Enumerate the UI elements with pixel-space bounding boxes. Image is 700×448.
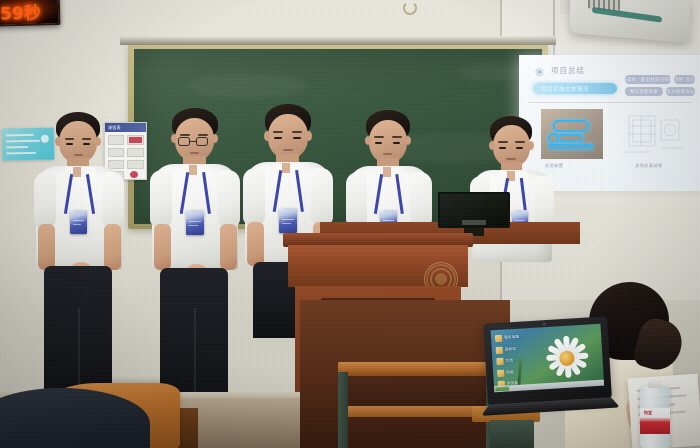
screenshot-root: 项目总结 项目实施总体情况 总成本 · 新型材料分布图 经济性 可行性 整车性能… <box>0 0 700 448</box>
podium-face <box>288 245 468 287</box>
folder-icon <box>495 335 502 342</box>
slide-tag: 总成本 · 新型材料分布图 <box>625 75 671 84</box>
led-countdown-text: 59秒 <box>0 0 41 25</box>
bottle-brand-label: 怡宝 <box>644 410 652 416</box>
slide-title: 项目总结 <box>551 65 585 76</box>
slide-tag: 经济性 可行性 <box>674 75 695 84</box>
slide-divider <box>529 102 692 103</box>
folder-icon <box>496 358 503 365</box>
pump-diagram-icon <box>547 116 597 152</box>
water-bottle[interactable]: 怡宝 <box>640 378 670 448</box>
laptop-foreground[interactable]: 我的电脑 回收站 文档 网络 浏览器 百度网盘 影音 <box>483 316 613 419</box>
student-2-glasses-icon-2 <box>196 137 208 146</box>
student-2-badge <box>186 210 204 235</box>
desktop-icon[interactable]: 网络 <box>497 367 531 378</box>
student-1 <box>34 112 124 412</box>
student-1-head <box>59 121 97 163</box>
wall-hook-icon <box>403 1 417 15</box>
student-3-head <box>268 114 308 159</box>
desktop-monitor <box>438 192 510 236</box>
webcam-icon <box>542 322 546 326</box>
student-1-badge <box>70 210 87 234</box>
desktop-icon[interactable]: 文档 <box>496 355 530 366</box>
student-5-head <box>493 125 530 167</box>
start-button[interactable] <box>495 386 509 391</box>
slide-header: 项目总结 <box>533 64 585 77</box>
slide-highlight-pill: 项目实施总体情况 <box>533 83 617 94</box>
chalk-rail <box>120 36 556 45</box>
led-countdown-display: 59秒 <box>0 0 60 27</box>
student-3-badge <box>279 208 297 233</box>
table-shelf <box>346 406 488 417</box>
laptop-lid: 我的电脑 回收站 文档 网络 浏览器 百度网盘 影音 <box>483 316 612 405</box>
laptop-screen[interactable]: 我的电脑 回收站 文档 网络 浏览器 百度网盘 影音 <box>491 324 605 393</box>
table-opening <box>346 376 488 406</box>
slide-highlight-label: 项目实施总体情况 <box>541 85 589 93</box>
slide-tag-group: 总成本 · 新型材料分布图 经济性 可行性 整车性能效果 气流分离情况分析 <box>625 75 695 96</box>
monitor-logo <box>462 220 486 225</box>
bottle-label: 怡宝 <box>640 408 670 434</box>
slide-diagram-caption: 流场仿真结果 <box>635 163 663 169</box>
slide-technical-drawing <box>621 110 689 158</box>
daisy-wallpaper-icon <box>543 332 592 381</box>
projector-stripe <box>592 7 662 23</box>
slide-tag: 整车性能效果 <box>625 87 663 96</box>
chair-frame <box>490 420 534 448</box>
desktop-icon[interactable]: 我的电脑 <box>495 332 529 343</box>
folder-icon <box>496 346 503 353</box>
slide-bullet-icon <box>533 64 546 77</box>
slide-tag: 气流分离情况分析 <box>666 87 695 96</box>
folder-icon <box>497 369 504 376</box>
bottle-cap <box>648 378 662 388</box>
student-2 <box>152 108 240 412</box>
desktop-icon[interactable]: 回收站 <box>496 344 530 355</box>
wall-seam-2 <box>553 0 555 58</box>
student-4-head <box>369 120 407 163</box>
